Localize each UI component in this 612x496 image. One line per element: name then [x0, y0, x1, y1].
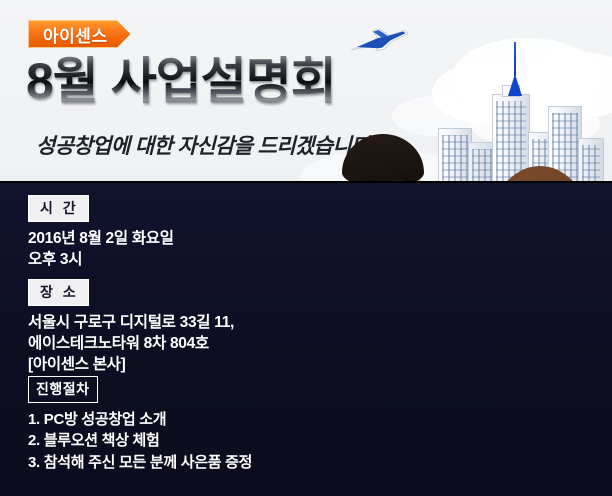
time-label: 시 간 — [28, 195, 89, 222]
procedure-block: 진행절차 1. PC방 성공창업 소개 2. 블루오션 책상 체험 3. 참석해… — [28, 376, 252, 473]
procedure-step-list: 1. PC방 성공창업 소개 2. 블루오션 책상 체험 3. 참석해 주신 모… — [28, 409, 252, 473]
procedure-label: 진행절차 — [28, 376, 98, 403]
event-details-panel: 시 간 2016년 8월 2일 화요일 오후 3시 장 소 서울시 구로구 디지… — [0, 181, 612, 496]
tower-antenna-icon — [514, 42, 516, 76]
tower-spire-icon — [508, 74, 522, 96]
time-block: 시 간 2016년 8월 2일 화요일 오후 3시 — [28, 195, 174, 271]
seminar-promo-banner: 아이센스 8월 사업설명회 성공창업에 대한 자신감을 드리겠습니다! — [0, 0, 612, 496]
place-value: 서울시 구로구 디지털로 33길 11, 에이스테크노타워 8차 804호 [아… — [28, 313, 234, 376]
place-label: 장 소 — [28, 279, 89, 306]
time-value: 2016년 8월 2일 화요일 오후 3시 — [28, 229, 174, 271]
page-title: 8월 사업설명회 — [26, 56, 336, 106]
list-item: 3. 참석해 주신 모든 분께 사은품 증정 — [28, 452, 252, 473]
brand-badge-label: 아이센스 — [43, 22, 108, 47]
list-item: 2. 블루오션 책상 체험 — [28, 430, 252, 451]
brand-badge: 아이센스 — [28, 20, 131, 48]
list-item: 1. PC방 성공창업 소개 — [28, 409, 252, 430]
hair — [342, 134, 424, 186]
place-block: 장 소 서울시 구로구 디지털로 33길 11, 에이스테크노타워 8차 804… — [28, 279, 234, 376]
